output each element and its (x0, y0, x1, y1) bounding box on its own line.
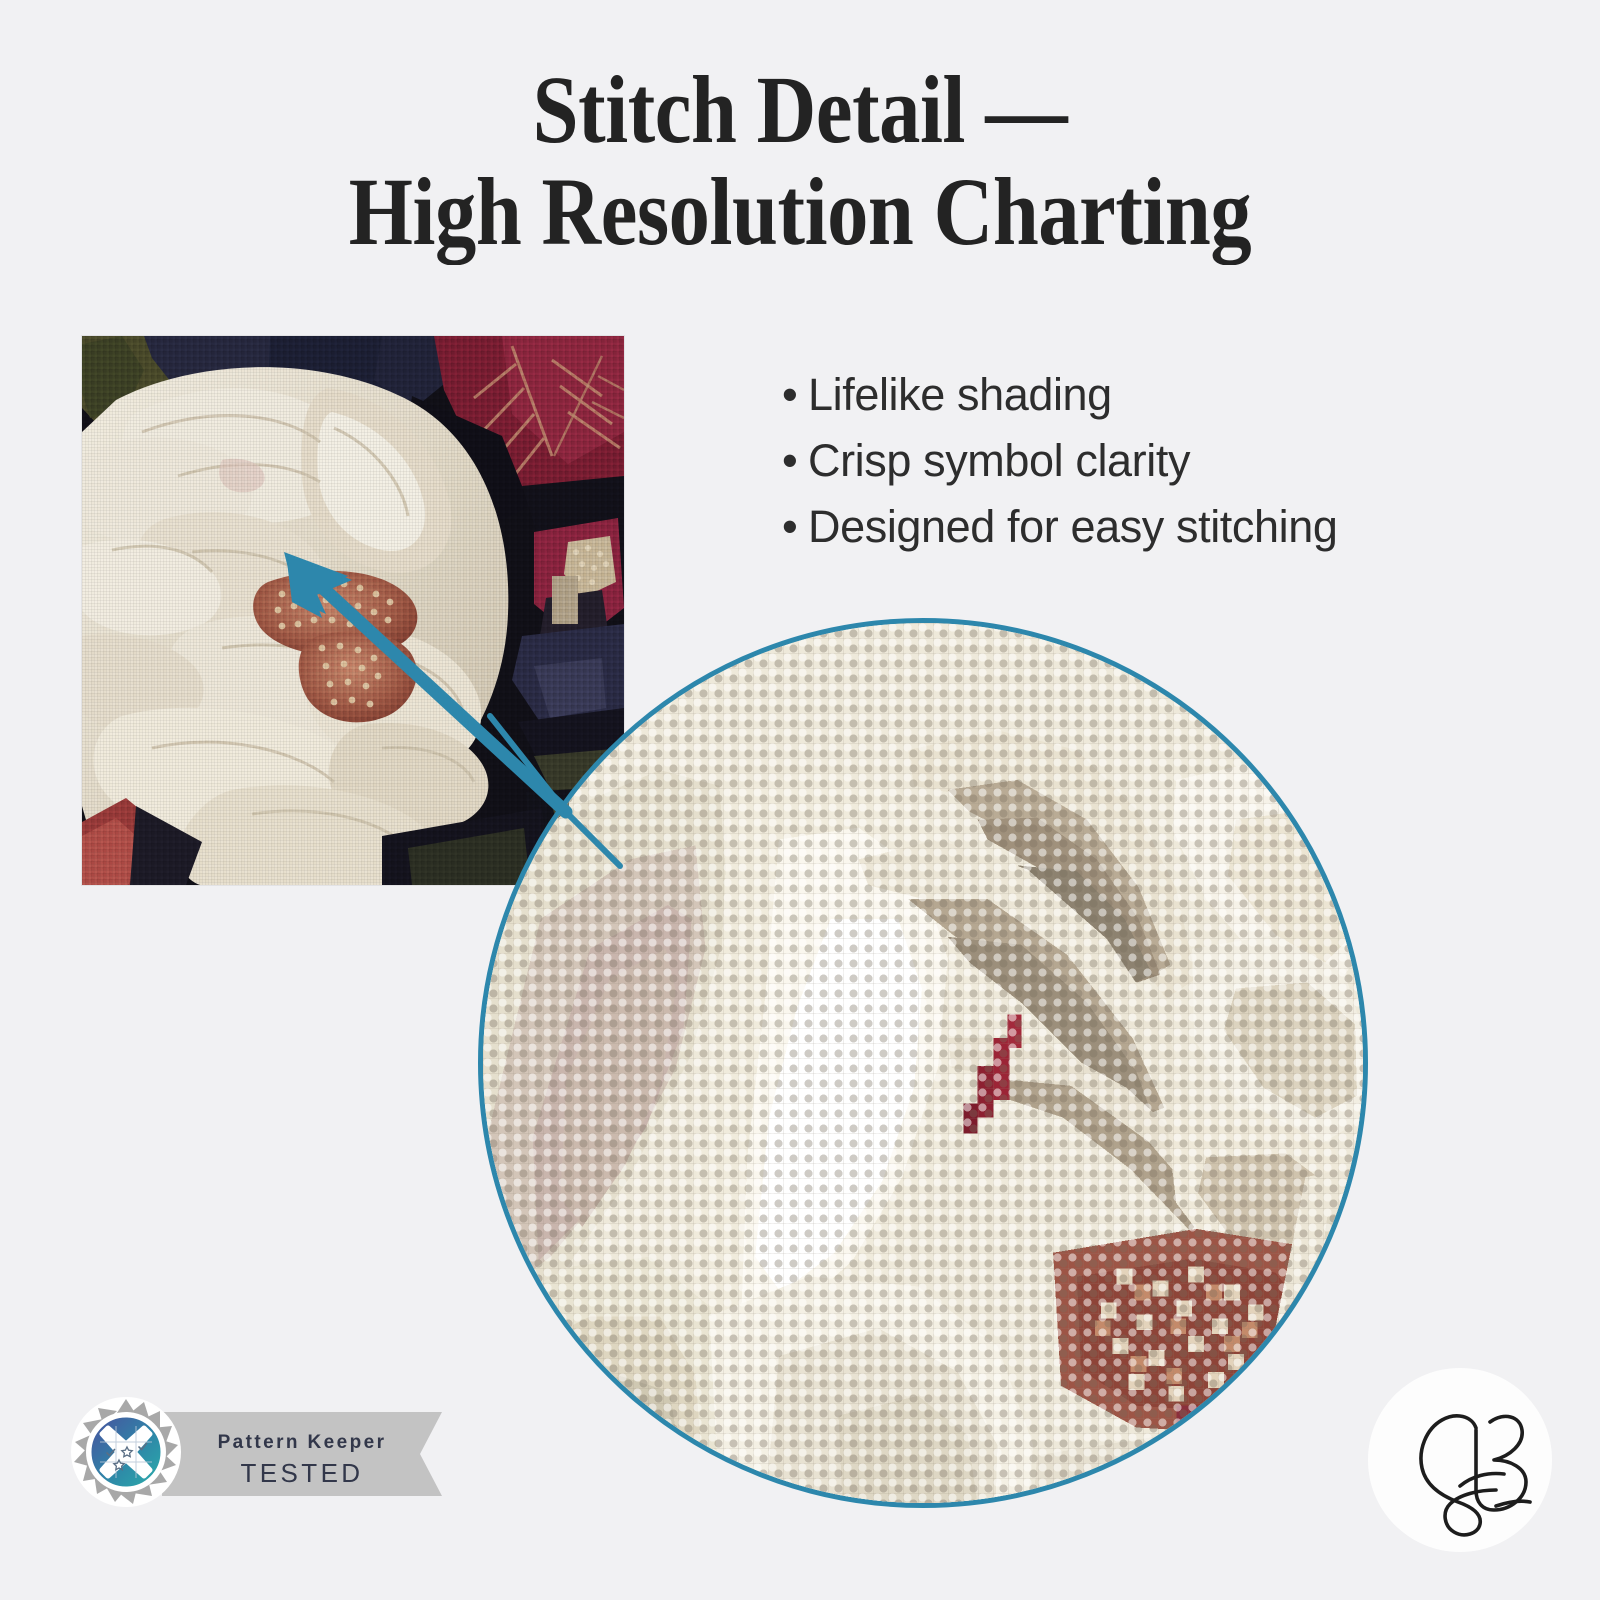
bullet-icon: • (782, 428, 808, 494)
pattern-keeper-badge-graphic: Pattern Keeper TESTED (70, 1378, 470, 1523)
pattern-keeper-line-1: Pattern Keeper (218, 1432, 387, 1453)
pattern-keeper-medallion (71, 1397, 181, 1507)
page-title: Stitch Detail — High Resolution Charting (0, 59, 1600, 263)
feature-item-1-label: Crisp symbol clarity (808, 435, 1190, 486)
magnified-detail-circle (478, 618, 1368, 1508)
feature-item-1: •Crisp symbol clarity (782, 428, 1482, 494)
bullet-icon: • (782, 362, 808, 428)
signature-monogram-icon (1368, 1368, 1552, 1552)
page-title-line-1: Stitch Detail — (112, 59, 1488, 161)
pattern-keeper-line-2: TESTED (241, 1458, 364, 1488)
feature-item-2-label: Designed for easy stitching (808, 501, 1338, 552)
page-title-line-2: High Resolution Charting (112, 161, 1488, 263)
feature-list: •Lifelike shading •Crisp symbol clarity … (782, 362, 1482, 560)
magnified-aida-texture (483, 623, 1363, 1503)
pattern-keeper-badge: Pattern Keeper TESTED (70, 1378, 470, 1523)
feature-item-0-label: Lifelike shading (808, 369, 1112, 420)
feature-item-0: •Lifelike shading (782, 362, 1482, 428)
poster-canvas: Stitch Detail — High Resolution Charting (0, 0, 1600, 1600)
bullet-icon: • (782, 494, 808, 560)
signature-logo (1368, 1368, 1552, 1552)
feature-item-2: •Designed for easy stitching (782, 494, 1482, 560)
